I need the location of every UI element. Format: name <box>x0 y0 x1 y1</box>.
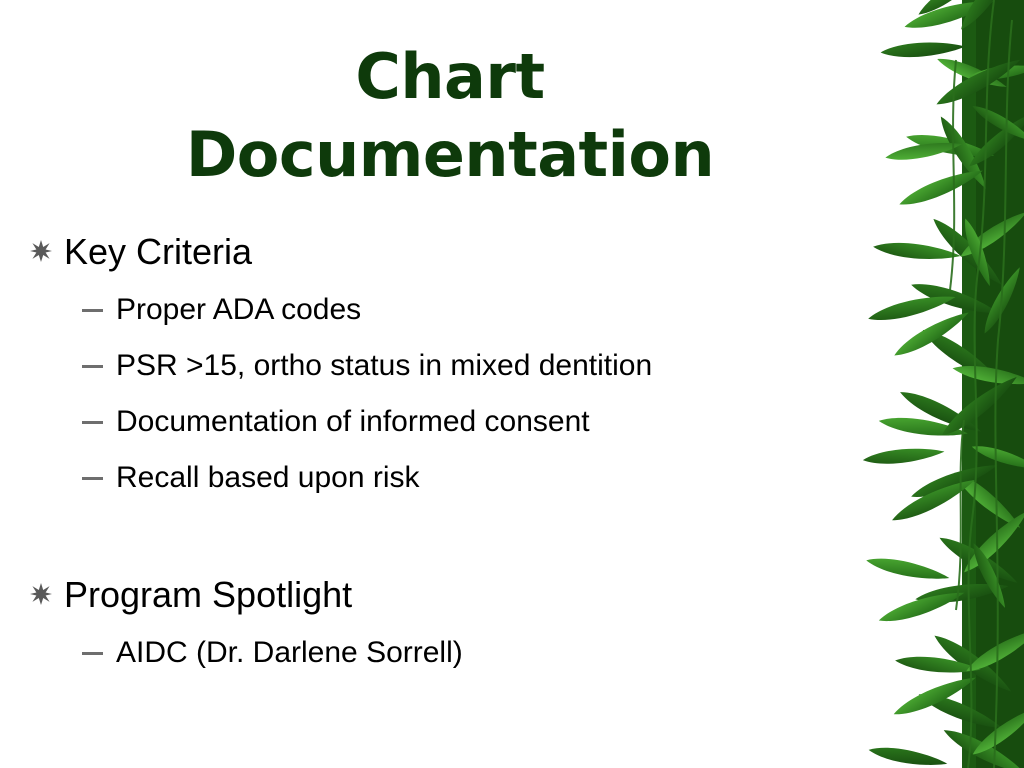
list-item-level2: AIDC (Dr. Darlene Sorrell) <box>30 632 860 674</box>
bamboo-leaves-photo <box>844 0 1024 768</box>
bullet-subitem: Recall based upon risk <box>116 457 420 499</box>
dash-bullet-icon <box>82 457 116 480</box>
list-item-level1: Program Spotlight <box>30 571 860 618</box>
title-line-1: Chart <box>40 38 860 116</box>
slide-title: Chart Documentation <box>40 38 860 194</box>
bullet-subitem: Proper ADA codes <box>116 289 361 331</box>
group-spacer <box>30 499 860 571</box>
bullet-group-key-criteria: Key Criteria Proper ADA codes PSR >15, o… <box>30 228 860 499</box>
bullet-subitem: AIDC (Dr. Darlene Sorrell) <box>116 632 463 674</box>
list-item-level2: Recall based upon risk <box>30 457 860 499</box>
slide-body: Key Criteria Proper ADA codes PSR >15, o… <box>30 228 860 674</box>
bullet-subitem: PSR >15, ortho status in mixed dentition <box>116 345 652 387</box>
bullet-group-program-spotlight: Program Spotlight AIDC (Dr. Darlene Sorr… <box>30 571 860 674</box>
star-bullet-icon <box>30 569 64 605</box>
list-item-level2: Documentation of informed consent <box>30 401 860 443</box>
bullet-heading: Program Spotlight <box>64 572 352 618</box>
dash-bullet-icon <box>82 289 116 312</box>
dash-bullet-icon <box>82 401 116 424</box>
list-item-level2: PSR >15, ortho status in mixed dentition <box>30 345 860 387</box>
slide-canvas: Chart Documentation Key Criteria Proper … <box>0 0 1024 768</box>
bullet-heading: Key Criteria <box>64 229 252 275</box>
star-bullet-icon <box>30 226 64 262</box>
dash-bullet-icon <box>82 632 116 655</box>
title-line-2: Documentation <box>40 116 860 194</box>
list-item-level1: Key Criteria <box>30 228 860 275</box>
dash-bullet-icon <box>82 345 116 368</box>
bullet-subitem: Documentation of informed consent <box>116 401 590 443</box>
list-item-level2: Proper ADA codes <box>30 289 860 331</box>
